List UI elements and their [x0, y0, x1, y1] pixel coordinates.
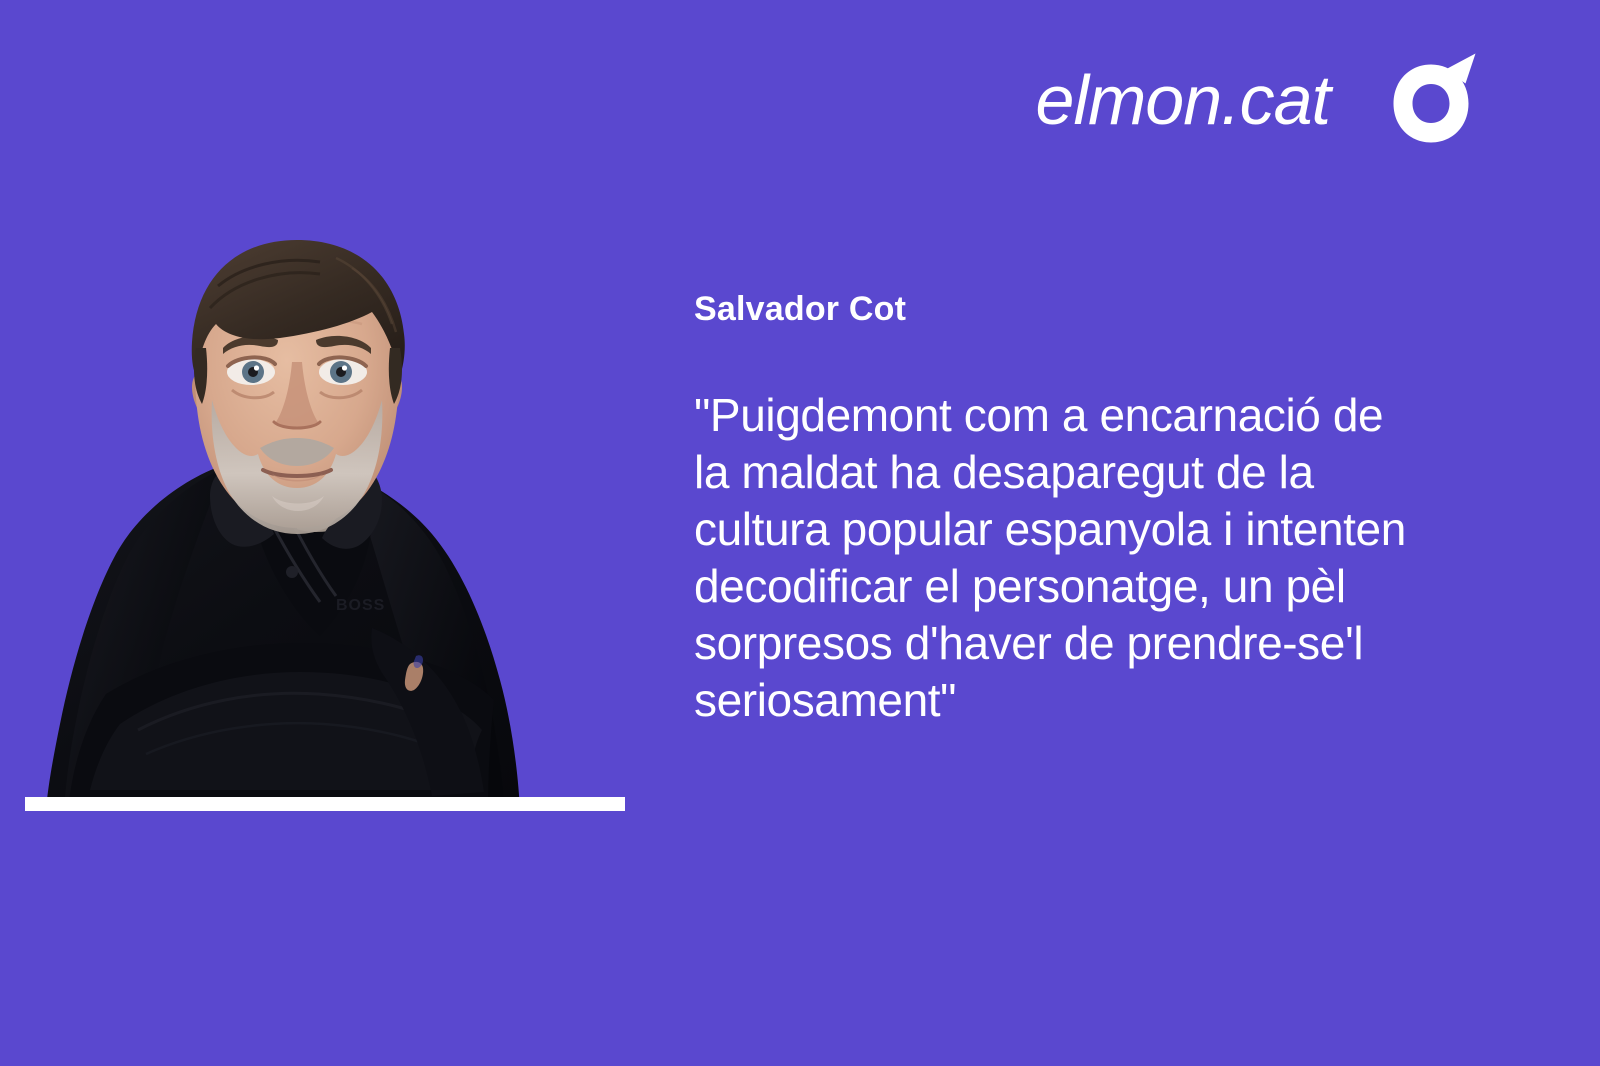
quote-line: "Puigdemont com a encarnació de: [694, 387, 1494, 444]
quote-text: "Puigdemont com a encarnació de la malda…: [694, 387, 1494, 729]
brand-lockup[interactable]: elmon.cat: [960, 42, 1480, 157]
quote-line: seriosament": [694, 672, 1494, 729]
quote-text-column: Salvador Cot "Puigdemont com a encarnaci…: [694, 288, 1494, 729]
svg-text:BOSS: BOSS: [336, 597, 385, 614]
quote-line: la maldat ha desaparegut de la: [694, 444, 1494, 501]
white-rule-divider: [25, 797, 625, 811]
quote-card-canvas: elmon.cat: [0, 0, 1600, 1066]
quote-line: cultura popular espanyola i intenten: [694, 501, 1494, 558]
quote-line: sorpresos d'haver de prendre-se'l: [694, 615, 1494, 672]
elmon-ring-logo-icon: [1382, 50, 1480, 150]
author-name: Salvador Cot: [694, 288, 1494, 331]
quote-line: decodificar el personatge, un pèl: [694, 558, 1494, 615]
brand-wordmark: elmon.cat: [1036, 65, 1330, 135]
portrait-photo: BOSS: [20, 224, 580, 810]
